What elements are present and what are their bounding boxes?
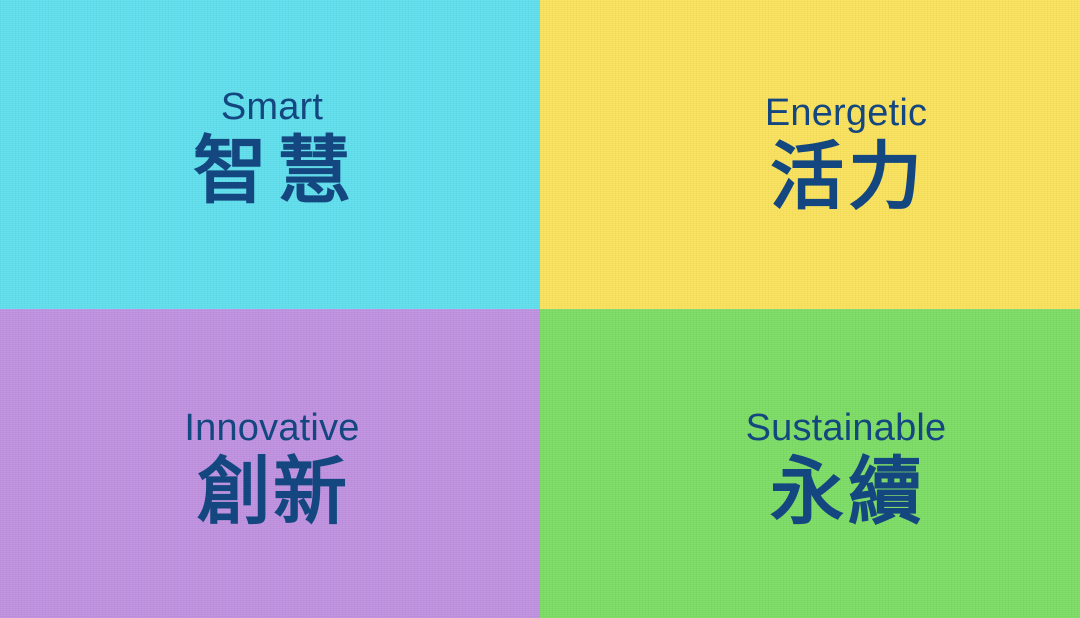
- quadrant-smart[interactable]: Smart 智慧: [0, 0, 540, 309]
- quadrant-innovative[interactable]: Innovative 創新: [0, 309, 540, 618]
- label-stack-energetic: Energetic 活力: [576, 94, 1080, 216]
- chinese-label-smart: 智慧: [183, 132, 361, 210]
- quadrant-energetic[interactable]: Energetic 活力: [540, 0, 1080, 309]
- english-label-energetic: Energetic: [765, 94, 927, 134]
- label-stack-innovative: Innovative 創新: [2, 409, 540, 531]
- label-stack-smart: Smart 智慧: [2, 88, 540, 210]
- english-label-smart: Smart: [221, 88, 323, 128]
- english-label-innovative: Innovative: [184, 409, 359, 449]
- label-stack-sustainable: Sustainable 永續: [576, 409, 1080, 531]
- quadrant-sustainable[interactable]: Sustainable 永續: [540, 309, 1080, 618]
- english-label-sustainable: Sustainable: [746, 409, 947, 449]
- values-quadrant-board: Smart 智慧 Energetic 活力 Innovative 創新 Sust…: [0, 0, 1080, 618]
- chinese-label-innovative: 創新: [195, 453, 349, 531]
- chinese-label-sustainable: 永續: [766, 453, 926, 531]
- chinese-label-energetic: 活力: [766, 138, 926, 216]
